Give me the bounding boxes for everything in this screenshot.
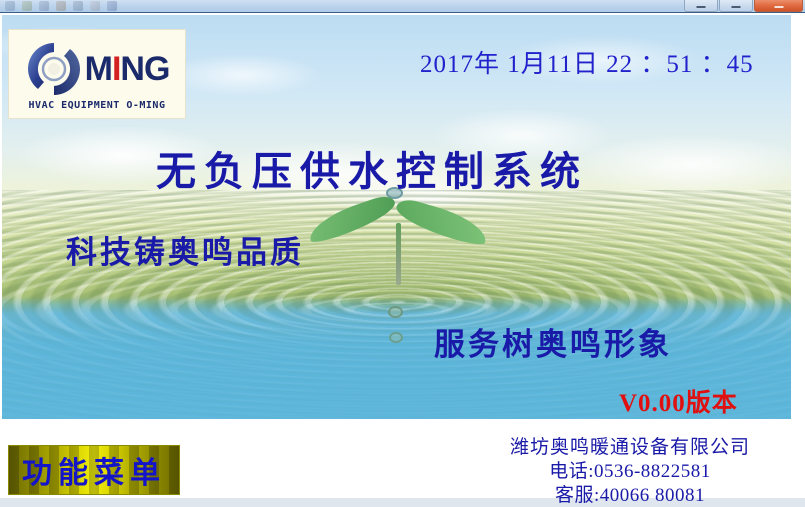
version-label: V0.00版本 <box>619 383 738 419</box>
client-area: MING HVAC EQUIPMENT O-MING 2017年 1月11日 2… <box>0 13 805 498</box>
taskbar-app-icon-4[interactable] <box>56 1 66 11</box>
sprout-stem <box>396 223 401 285</box>
logo-wordmark-ng: NG <box>120 50 169 88</box>
company-telephone: 电话:0536-8822581 <box>470 460 790 484</box>
slogan-left: 科技铸奥鸣品质 <box>66 227 304 272</box>
taskbar-app-icon-1[interactable] <box>5 1 15 11</box>
logo-wordmark: MING <box>85 52 170 86</box>
green-sprout-icon <box>354 203 444 298</box>
taskbar-app-icon-7[interactable] <box>107 1 117 11</box>
logo-row: MING <box>25 40 170 98</box>
water-droplet-bottom-icon <box>389 332 403 343</box>
sprout-leaf-right <box>392 196 490 247</box>
function-menu-button[interactable]: 功能菜单 <box>8 445 180 495</box>
company-logo-card: MING HVAC EQUIPMENT O-MING <box>8 29 186 119</box>
logo-wordmark-m: M <box>85 50 112 88</box>
application-window: MING HVAC EQUIPMENT O-MING 2017年 1月11日 2… <box>0 0 805 498</box>
company-contact-block: 潍坊奥鸣暖通设备有限公司 电话:0536-8822581 客服:40066 80… <box>470 436 790 507</box>
company-name: 潍坊奥鸣暖通设备有限公司 <box>470 436 790 460</box>
maximize-button[interactable] <box>719 0 753 12</box>
logo-tagline: HVAC EQUIPMENT O-MING <box>29 100 166 111</box>
window-controls <box>683 0 803 12</box>
taskbar-app-icon-5[interactable] <box>73 1 83 11</box>
function-menu-button-label: 功能菜单 <box>22 448 166 492</box>
company-service-hotline: 客服:40066 80081 <box>470 484 790 507</box>
sprout-leaf-left <box>305 193 400 246</box>
window-titlebar <box>0 0 805 13</box>
page-title: 无负压供水控制系统 <box>156 139 588 197</box>
system-datetime: 2017年 1月11日 22 ：51 ：45 <box>420 44 754 80</box>
water-droplet-middle-icon <box>388 306 403 318</box>
minimize-button[interactable] <box>684 0 718 12</box>
taskbar-app-icon-3[interactable] <box>39 1 49 11</box>
titlebar-icon-strip <box>5 1 117 11</box>
o-ming-circular-logo-icon <box>25 40 83 98</box>
taskbar-app-icon-2[interactable] <box>22 1 32 11</box>
taskbar-app-icon-6[interactable] <box>90 1 100 11</box>
close-button[interactable] <box>754 0 803 12</box>
slogan-right: 服务树奥鸣形象 <box>434 319 672 364</box>
